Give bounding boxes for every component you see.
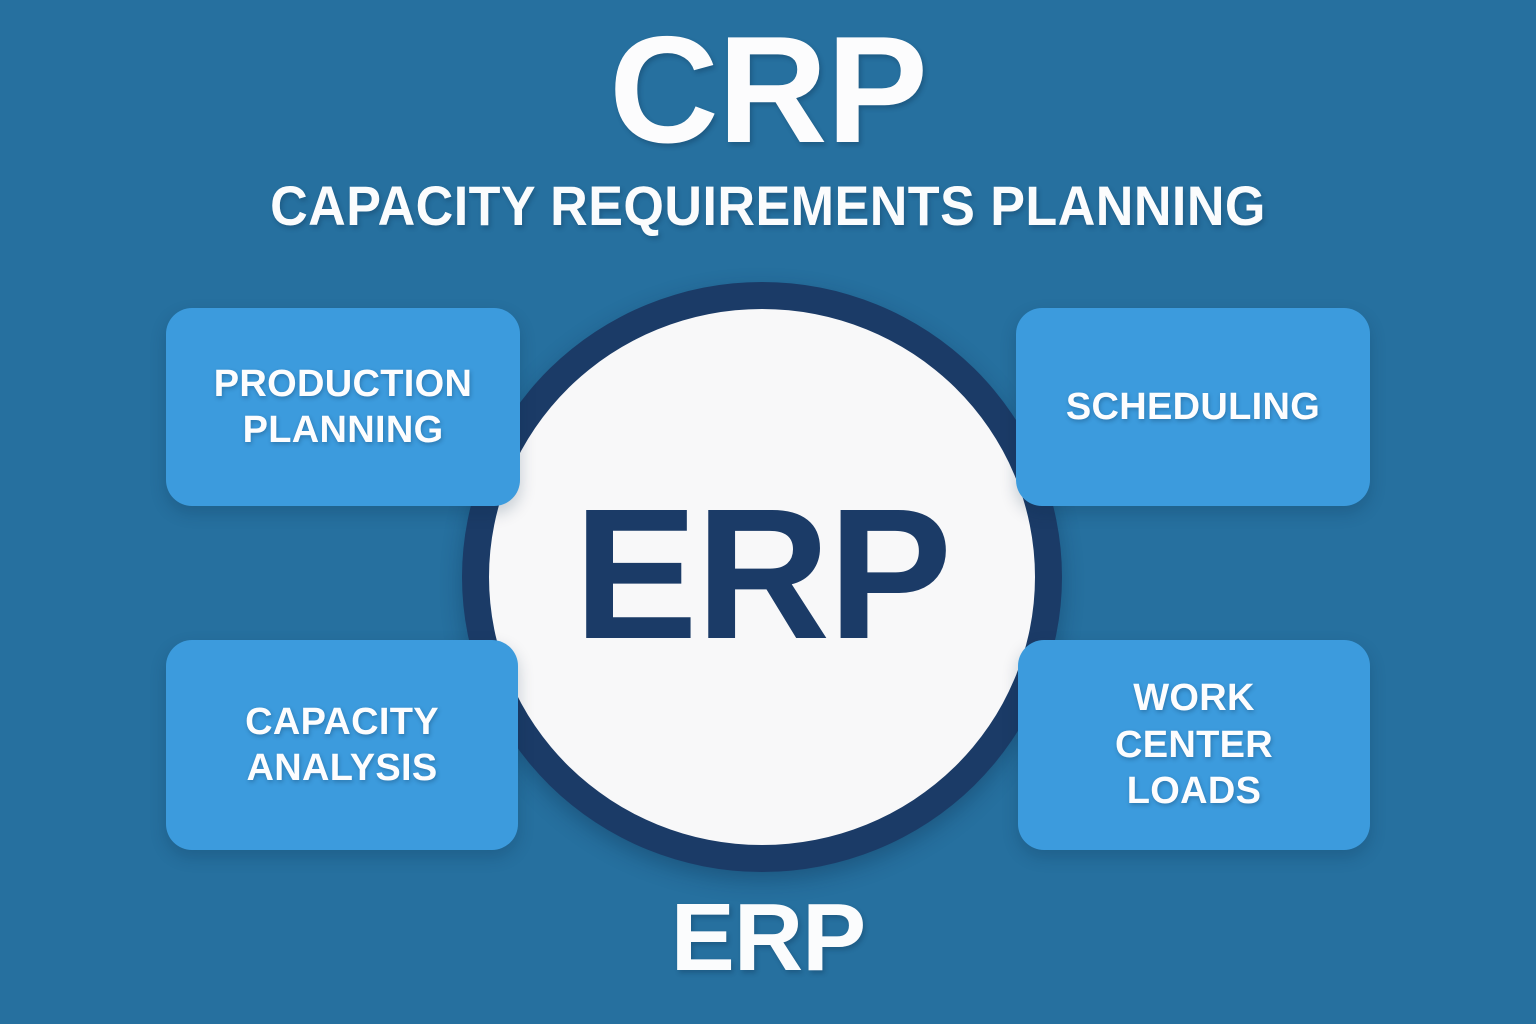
node-scheduling-label: SCHEDULING	[1050, 384, 1336, 430]
center-circle[interactable]: ERP	[462, 282, 1062, 872]
footer: ERP	[0, 890, 1536, 986]
footer-label: ERP	[0, 890, 1536, 986]
node-production-planning-label: PRODUCTION PLANNING	[200, 361, 486, 454]
node-work-center-loads-label: WORK CENTER LOADS	[1052, 675, 1336, 814]
page-subtitle: CAPACITY REQUIREMENTS PLANNING	[54, 178, 1482, 234]
diagram-canvas: CRP CAPACITY REQUIREMENTS PLANNING PRODU…	[0, 0, 1536, 1024]
header: CRP CAPACITY REQUIREMENTS PLANNING	[0, 0, 1536, 234]
node-scheduling[interactable]: SCHEDULING	[1016, 308, 1370, 506]
page-title: CRP	[0, 14, 1536, 166]
node-capacity-analysis[interactable]: CAPACITY ANALYSIS	[166, 640, 518, 850]
node-capacity-analysis-label: CAPACITY ANALYSIS	[200, 699, 484, 792]
node-production-planning[interactable]: PRODUCTION PLANNING	[166, 308, 520, 506]
center-circle-label: ERP	[462, 282, 1062, 872]
node-work-center-loads[interactable]: WORK CENTER LOADS	[1018, 640, 1370, 850]
